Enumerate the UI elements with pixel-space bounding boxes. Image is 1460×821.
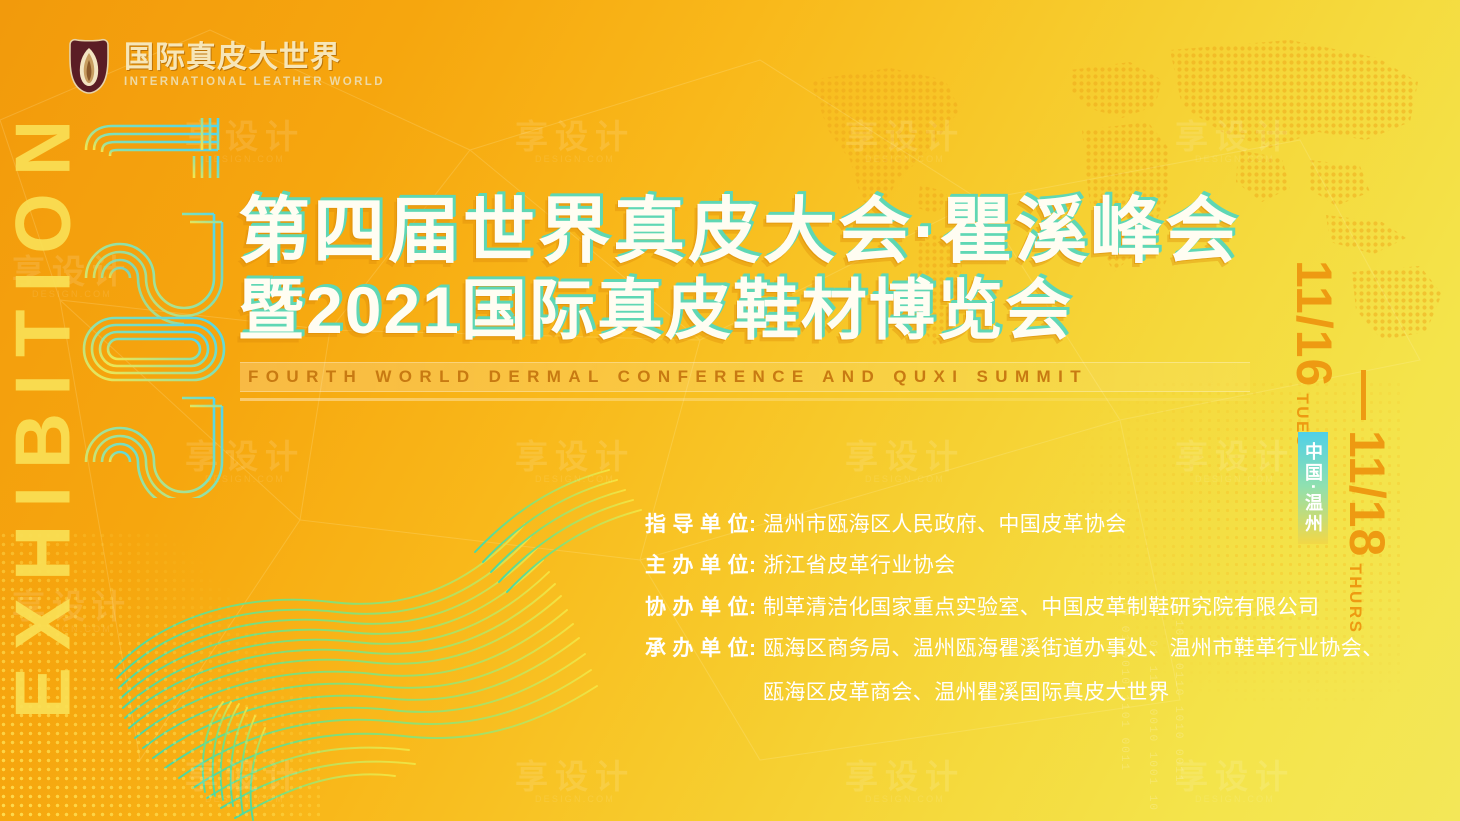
organizer-row: 协办单位 : 制革清洁化国家重点实验室、中国皮革制鞋研究院有限公司 — [645, 593, 1345, 623]
watermark: 享设计 DESIGN.COM — [845, 760, 965, 804]
watermark-cn: 享设计 — [845, 440, 965, 475]
organizer-colon: : — [749, 593, 763, 623]
watermark-en: DESIGN.COM — [1175, 795, 1295, 804]
watermark: 享设计 DESIGN.COM — [185, 760, 305, 804]
headline-line-2: 暨2021国际真皮鞋材博览会 — [238, 277, 1298, 344]
watermark: 享设计 DESIGN.COM — [1175, 760, 1295, 804]
organizer-label: 承办单位 — [645, 634, 749, 664]
date-end-number: 11/18 — [1342, 430, 1392, 557]
watermark-en: DESIGN.COM — [515, 475, 635, 484]
date-start-number: 11/16 — [1289, 260, 1339, 387]
organizer-value-continued: 瓯海区皮革商会、温州瞿溪国际真皮大世界 — [645, 676, 1345, 706]
watermark-cn: 享设计 — [515, 440, 635, 475]
logo-title-cn: 国际真皮大世界 — [124, 43, 385, 73]
watermark-cn: 享设计 — [1175, 440, 1295, 475]
organizer-row: 主办单位 : 浙江省皮革行业协会 — [645, 551, 1345, 581]
watermark: 享设计 DESIGN.COM — [515, 440, 635, 484]
watermark-en: DESIGN.COM — [515, 795, 635, 804]
organizer-row: 承办单位 : 瓯海区商务局、温州瓯海瞿溪街道办事处、温州市鞋革行业协会、 — [645, 634, 1345, 664]
date-range-separator: — — [1342, 370, 1392, 420]
subtitle-underrule — [240, 398, 1250, 401]
date-end-weekday: THURS — [1345, 563, 1365, 634]
watermark-cn: 享设计 — [1175, 760, 1295, 795]
watermark-cn: 享设计 — [185, 760, 305, 795]
organizer-colon: : — [749, 634, 763, 664]
watermark-en: DESIGN.COM — [845, 155, 965, 164]
city-badge-label: 中国·温州 — [1304, 442, 1322, 535]
organizer-value: 温州市瓯海区人民政府、中国皮革协会 — [763, 510, 1127, 540]
subtitle-en: FOURTH WORLD DERMAL CONFERENCE AND QUXI … — [248, 367, 1088, 387]
organizer-value: 瓯海区商务局、温州瓯海瞿溪街道办事处、温州市鞋革行业协会、 — [763, 634, 1384, 664]
decorative-year-2021-icon — [72, 108, 232, 498]
watermark-en: DESIGN.COM — [1175, 155, 1295, 164]
city-badge: 中国·温州 — [1298, 432, 1328, 544]
watermark: 享设计 DESIGN.COM — [515, 120, 635, 164]
logo-wordmark: 国际真皮大世界 INTERNATIONAL LEATHER WORLD — [124, 43, 385, 89]
watermark: 享设计 DESIGN.COM — [845, 440, 965, 484]
organizer-row: 指导单位 : 温州市瓯海区人民政府、中国皮革协会 — [645, 510, 1345, 540]
watermark-cn: 享设计 — [515, 760, 635, 795]
date-block: 11/16 TUES — 11/18 THURS — [1296, 250, 1416, 610]
watermark-cn: 享设计 — [845, 120, 965, 155]
date-end: — 11/18 THURS — [1342, 370, 1392, 634]
watermark: 享设计 DESIGN.COM — [1175, 440, 1295, 484]
organizer-label: 协办单位 — [645, 593, 749, 623]
subtitle-block: FOURTH WORLD DERMAL CONFERENCE AND QUXI … — [240, 362, 1250, 401]
organizer-label: 指导单位 — [645, 510, 749, 540]
subtitle-bar: FOURTH WORLD DERMAL CONFERENCE AND QUXI … — [240, 362, 1250, 392]
logo-title-en: INTERNATIONAL LEATHER WORLD — [124, 74, 385, 89]
organizer-value: 浙江省皮革行业协会 — [763, 551, 956, 581]
headline-line-1: 第四届世界真皮大会·瞿溪峰会 — [238, 196, 1298, 269]
brand-logo[interactable]: 国际真皮大世界 INTERNATIONAL LEATHER WORLD — [66, 38, 385, 94]
organizer-list: 指导单位 : 温州市瓯海区人民政府、中国皮革协会 主办单位 : 浙江省皮革行业协… — [645, 510, 1345, 706]
watermark-en: DESIGN.COM — [515, 155, 635, 164]
watermark-en: DESIGN.COM — [845, 475, 965, 484]
watermark-en: DESIGN.COM — [845, 795, 965, 804]
organizer-colon: : — [749, 551, 763, 581]
watermark-cn: 享设计 — [1175, 120, 1295, 155]
exhibition-poster: 10 01 0010 1101 0011 01 1101 0010 1001 1… — [0, 0, 1460, 821]
watermark: 享设计 DESIGN.COM — [515, 760, 635, 804]
organizer-colon: : — [749, 510, 763, 540]
watermark-cn: 享设计 — [515, 120, 635, 155]
watermark-en: DESIGN.COM — [185, 795, 305, 804]
watermark: 享设计 DESIGN.COM — [1175, 120, 1295, 164]
date-start: 11/16 TUES — [1289, 260, 1339, 449]
watermark-cn: 享设计 — [845, 760, 965, 795]
watermark-en: DESIGN.COM — [1175, 475, 1295, 484]
organizer-label: 主办单位 — [645, 551, 749, 581]
organizer-value: 制革清洁化国家重点实验室、中国皮革制鞋研究院有限公司 — [763, 593, 1319, 623]
leather-shield-emblem-icon — [66, 38, 112, 94]
headline-block: 第四届世界真皮大会·瞿溪峰会 暨2021国际真皮鞋材博览会 — [238, 196, 1298, 345]
watermark: 享设计 DESIGN.COM — [845, 120, 965, 164]
